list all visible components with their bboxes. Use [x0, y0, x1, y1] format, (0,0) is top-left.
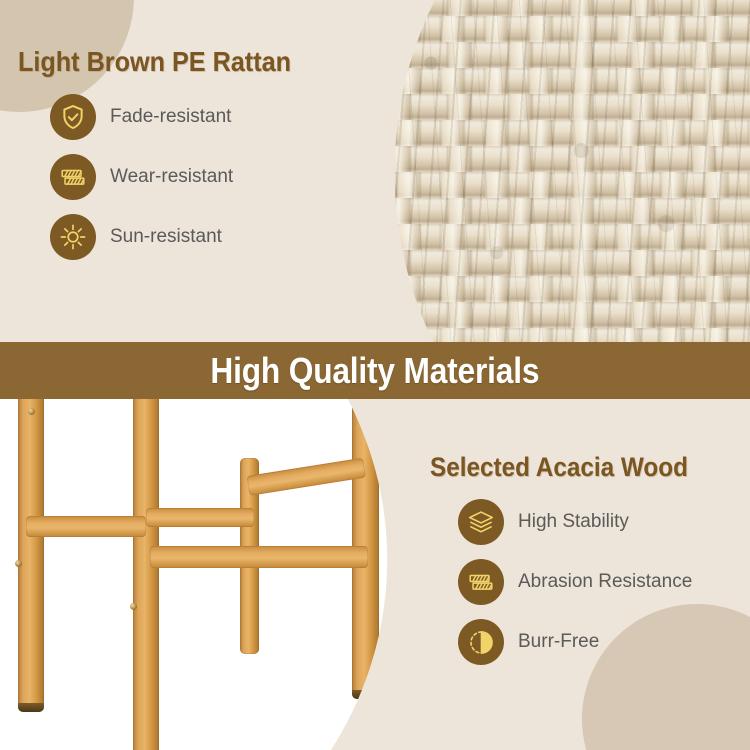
list-item: Fade-resistant [50, 94, 348, 140]
stool-foot-left [18, 703, 44, 712]
wood-heading: Selected Acacia Wood [430, 452, 718, 483]
stool-rail-center [146, 508, 254, 527]
acacia-wood-stool-legs-photo [0, 398, 440, 750]
banner-title: High Quality Materials [211, 350, 540, 392]
list-item-label: Fade-resistant [110, 106, 231, 128]
screw-left [15, 560, 22, 567]
list-item-label: High Stability [518, 511, 629, 533]
shield-check-icon [50, 94, 96, 140]
list-item-label: Burr-Free [518, 631, 599, 653]
screw-top [28, 408, 35, 415]
rattan-weave-photo [300, 0, 750, 345]
stool-leg-mid [133, 398, 159, 750]
list-item: Burr-Free [458, 619, 750, 665]
list-item-label: Abrasion Resistance [518, 571, 692, 593]
rattan-texture [300, 0, 750, 345]
rattan-heading: Light Brown PE Rattan [18, 46, 315, 78]
rattan-feature-list: Fade-resistant Wear-resistant [18, 94, 348, 260]
section-banner: High Quality Materials [0, 342, 750, 399]
sun-icon [50, 214, 96, 260]
stacked-layers-icon [458, 499, 504, 545]
list-item-label: Wear-resistant [110, 166, 233, 188]
screw-mid [130, 603, 137, 610]
product-feature-graphic: High Quality Materials Light Brown PE Ra… [0, 0, 750, 750]
rattan-grain [300, 0, 750, 345]
list-item: Abrasion Resistance [458, 559, 750, 605]
list-item: Wear-resistant [50, 154, 348, 200]
wood-feature-panel: Selected Acacia Wood High Stability [430, 452, 750, 665]
hatched-bars-icon [458, 559, 504, 605]
list-item-label: Sun-resistant [110, 226, 222, 248]
hatched-bars-icon [50, 154, 96, 200]
list-item: High Stability [458, 499, 750, 545]
stool-rail-front [150, 546, 368, 568]
stool-leg-left [18, 398, 44, 712]
rattan-feature-panel: Light Brown PE Rattan Fade-resistant [18, 46, 348, 260]
stool-rail-back [246, 458, 366, 496]
list-item: Sun-resistant [50, 214, 348, 260]
wood-feature-list: High Stability Abrasion Resistance [430, 499, 750, 665]
half-circle-icon [458, 619, 504, 665]
stool-foot-right [352, 690, 379, 699]
stool-rail-left [26, 516, 146, 537]
